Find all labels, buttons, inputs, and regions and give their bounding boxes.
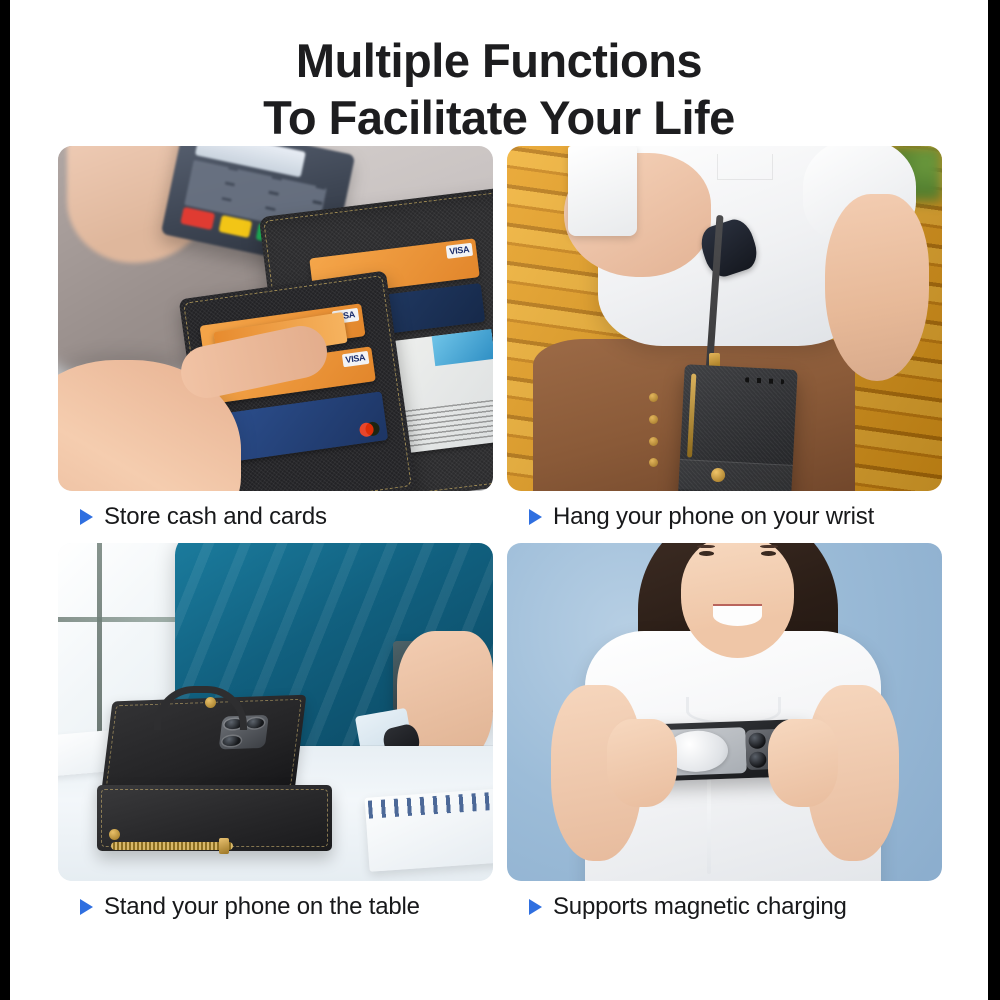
feature-cell-magnetic-charging: Supports magnetic charging [507, 543, 942, 933]
feature-row-bottom: Stand your phone on the table [58, 543, 942, 933]
feature-photo-store-cash-and-cards: VISA VISA [58, 146, 493, 491]
letterbox-left [0, 0, 10, 1000]
product-feature-page: Multiple Functions To Facilitate Your Li… [10, 0, 988, 1000]
zipper [111, 842, 233, 850]
paper-cup [568, 146, 638, 236]
feature-caption-label: Hang your phone on your wrist [553, 503, 874, 531]
triangle-right-icon [80, 899, 93, 915]
feature-grid: VISA VISA [58, 146, 942, 933]
eyebrow-right [760, 545, 778, 549]
hand-right [768, 719, 838, 807]
case-flap [678, 458, 793, 491]
wallet-phone-case [677, 364, 798, 491]
feature-cell-store-cash-and-cards: VISA VISA [58, 146, 493, 543]
spiral-notebook [364, 788, 493, 872]
notebook-spiral-binding [367, 792, 493, 819]
eye-left [699, 551, 714, 556]
snap-button [710, 467, 725, 482]
case-wallet-base [97, 785, 332, 850]
feature-caption-hang-on-wrist: Hang your phone on your wrist [507, 491, 942, 543]
triangle-right-icon [80, 509, 93, 525]
visa-logo-icon: VISA [445, 243, 472, 259]
smile [713, 604, 763, 626]
feature-caption-stand-on-table: Stand your phone on the table [58, 881, 493, 933]
id-header-band [431, 330, 493, 366]
feature-caption-magnetic-charging: Supports magnetic charging [507, 881, 942, 933]
eyebrow-left [697, 545, 715, 549]
feature-cell-stand-on-table: Stand your phone on the table [58, 543, 493, 933]
eye-right [761, 551, 776, 556]
window-frame-horizontal [58, 617, 189, 622]
feature-caption-label: Supports magnetic charging [553, 893, 847, 921]
feature-photo-hang-on-wrist [507, 146, 942, 491]
feature-cell-hang-on-wrist: Hang your phone on your wrist [507, 146, 942, 543]
triangle-right-icon [529, 899, 542, 915]
page-title: Multiple Functions To Facilitate Your Li… [10, 32, 988, 147]
rivet [109, 829, 120, 840]
right-arm [825, 194, 929, 380]
wallet-case-kickstand [97, 695, 332, 850]
charging-cable [707, 773, 711, 874]
page-title-line-2: To Facilitate Your Life [10, 89, 988, 146]
skirt-buttons [649, 389, 659, 488]
letterbox-right [988, 0, 1000, 1000]
page-title-line-1: Multiple Functions [10, 32, 988, 89]
feature-photo-stand-on-table [58, 543, 493, 881]
feature-caption-store-cash-and-cards: Store cash and cards [58, 491, 493, 543]
visa-logo-icon: VISA [341, 351, 369, 367]
zipper-pull [219, 838, 229, 854]
feature-caption-label: Store cash and cards [104, 503, 327, 531]
triangle-right-icon [529, 509, 542, 525]
feature-caption-label: Stand your phone on the table [104, 893, 420, 921]
hand-left [607, 719, 677, 807]
feature-photo-magnetic-charging [507, 543, 942, 881]
mastercard-logo-icon [358, 421, 380, 438]
stitching [101, 789, 328, 846]
snap-button [205, 697, 216, 708]
feature-row-top: VISA VISA [58, 146, 942, 543]
blouse-pocket [717, 154, 773, 181]
